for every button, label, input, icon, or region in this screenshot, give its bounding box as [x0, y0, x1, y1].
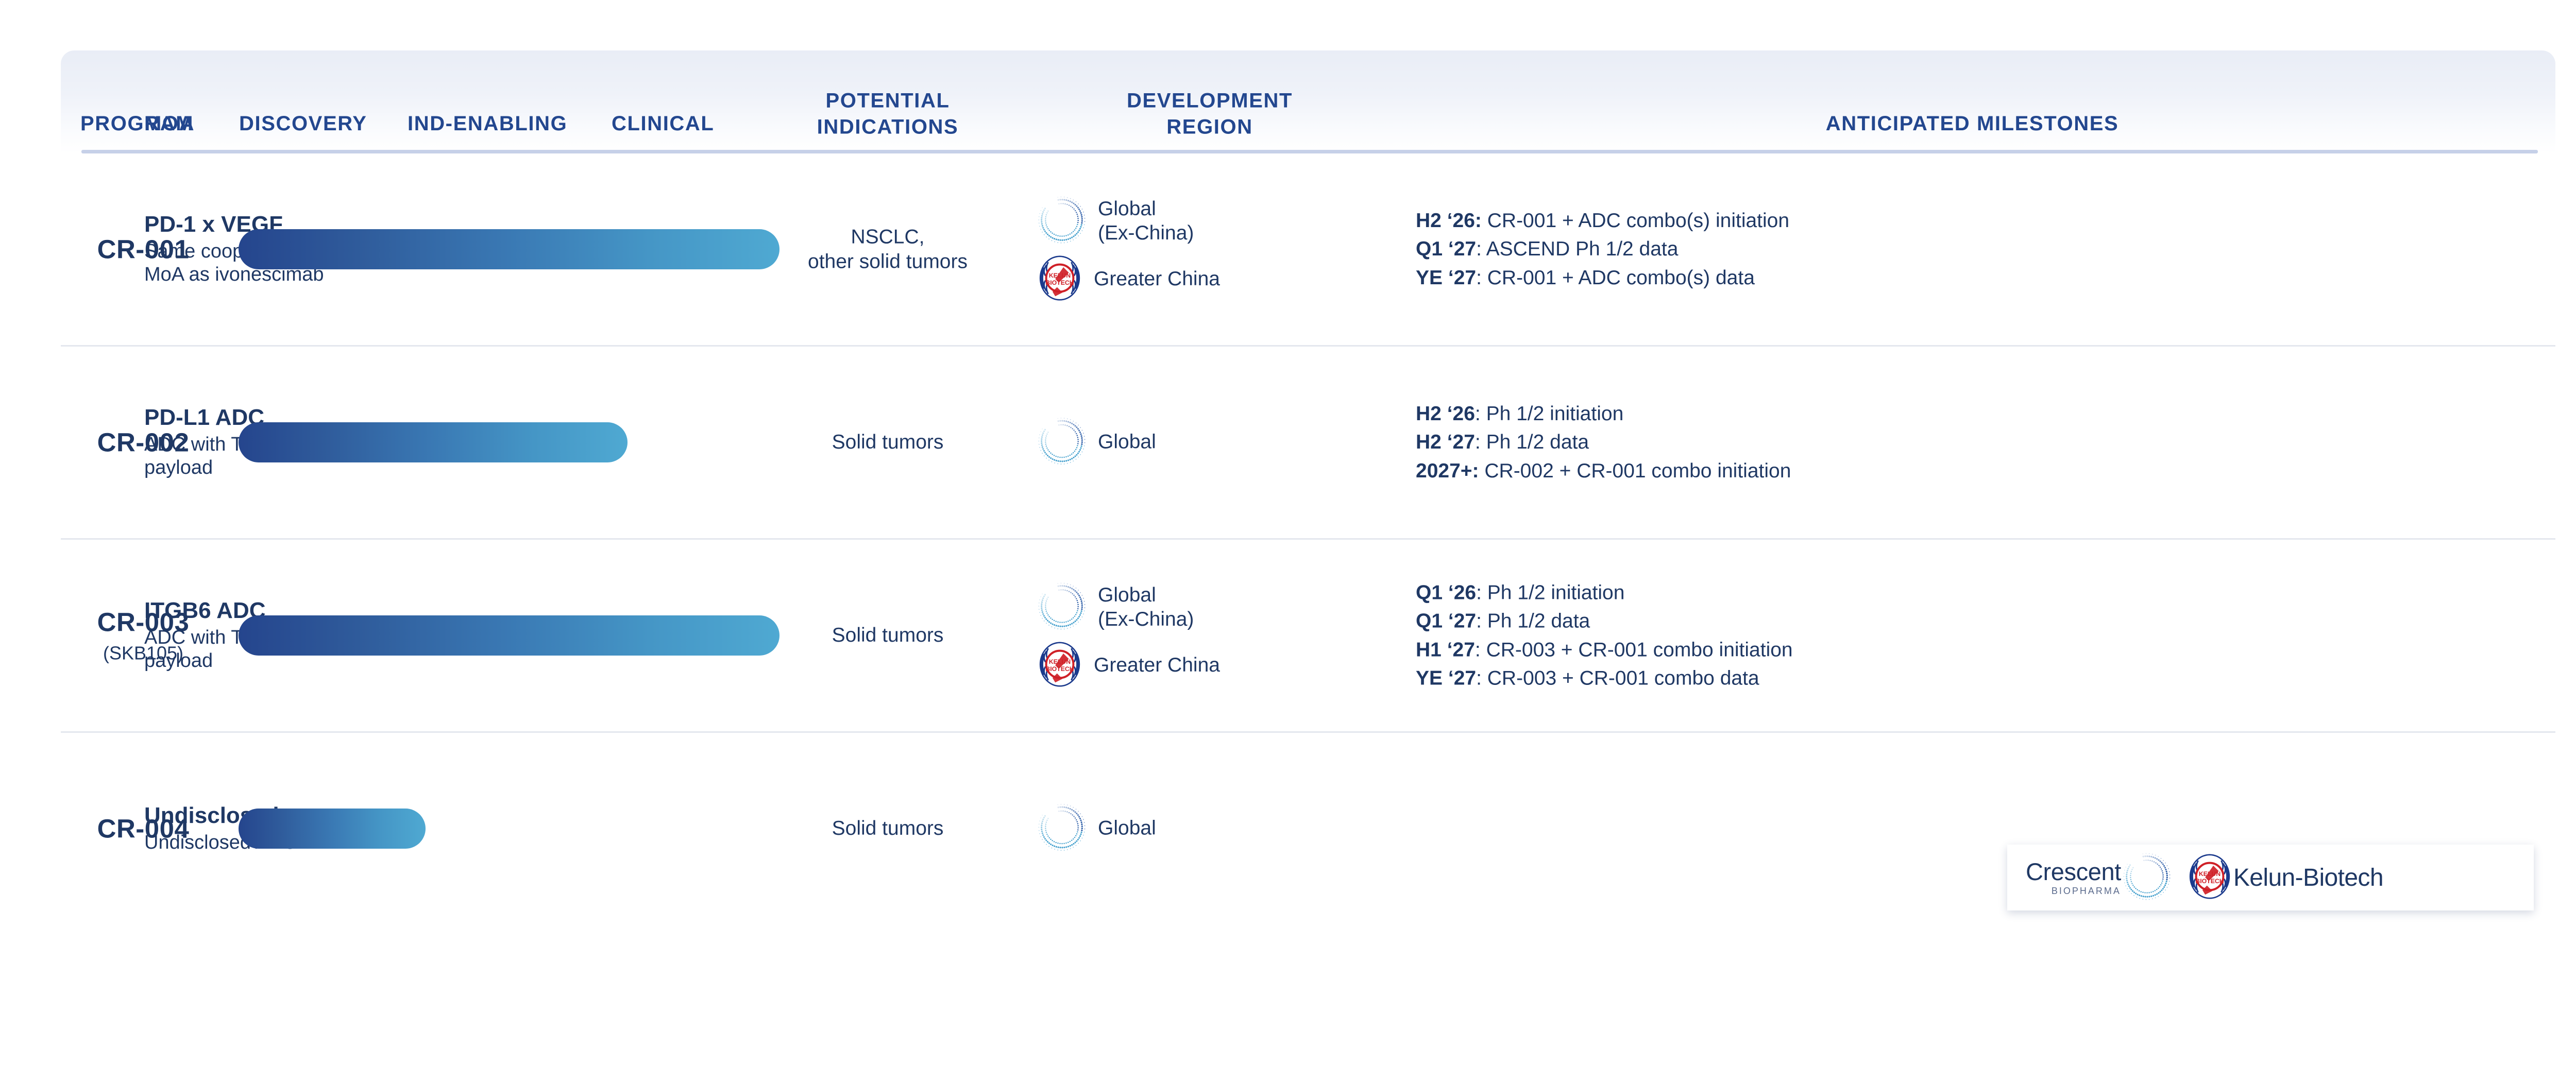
milestone-text: CR-001 + ADC combo(s) initiation — [1482, 210, 1789, 232]
stage-progress-cell — [239, 422, 628, 462]
table-body: CR-001PD-1 x VEGFSame cooperative MoA as… — [61, 153, 2555, 924]
milestone-text: : ASCEND Ph 1/2 data — [1476, 238, 1678, 260]
potential-indications-cell: Solid tumors — [731, 430, 1045, 455]
milestone-date: H2 ‘26: — [1416, 210, 1482, 232]
column-header-moa: MOA — [144, 111, 195, 137]
crescent-name: Crescent — [2026, 859, 2121, 884]
kelun-name: Kelun-Biotech — [2233, 864, 2383, 892]
header-divider — [81, 150, 2538, 153]
milestone-date: Q1 ‘27 — [1416, 238, 1476, 260]
milestone-item: YE ‘27: CR-001 + ADC combo(s) data — [1416, 264, 2523, 292]
crescent-icon — [2122, 852, 2172, 904]
milestones-cell: H2 ‘26: Ph 1/2 initiationH2 ‘27: Ph 1/2 … — [1416, 400, 2523, 485]
milestone-date: H2 ‘26 — [1416, 403, 1475, 425]
kelun-biotech-icon: KELUNBIOTECH — [2187, 854, 2232, 902]
stage-progress-bar — [239, 422, 628, 462]
crescent-icon — [1037, 581, 1087, 633]
column-header-development-region: DEVELOPMENT REGION — [1055, 88, 1364, 141]
column-header-anticipated-milestones: ANTICIPATED MILESTONES — [1405, 111, 2539, 137]
region-label: Global — [1098, 817, 1156, 840]
milestone-date: H1 ‘27 — [1416, 639, 1475, 661]
milestone-item: 2027+: CR-002 + CR-001 combo initiation — [1416, 457, 2523, 485]
potential-indications-cell: Solid tumors — [731, 816, 1045, 841]
milestone-date: YE ‘27 — [1416, 667, 1476, 689]
kelun-biotech-icon: KELUNBIOTECH — [1037, 255, 1082, 303]
development-region-cell: Global (Ex-China)KELUNBIOTECHGreater Chi… — [1037, 187, 1377, 312]
potential-indications-cell: Solid tumors — [731, 623, 1045, 648]
svg-text:BIOTECH: BIOTECH — [2195, 878, 2224, 885]
region-entry: KELUNBIOTECHGreater China — [1037, 642, 1377, 690]
milestone-text: : Ph 1/2 initiation — [1476, 581, 1624, 604]
svg-text:KELUN: KELUN — [1049, 272, 1071, 279]
column-header-ind-enabling: IND-ENABLING — [408, 111, 567, 137]
milestone-date: Q1 ‘26 — [1416, 581, 1476, 604]
region-entry: Global (Ex-China) — [1037, 195, 1377, 247]
milestone-text: : CR-001 + ADC combo(s) data — [1476, 267, 1755, 289]
milestone-item: H2 ‘26: CR-001 + ADC combo(s) initiation — [1416, 207, 2523, 235]
crescent-wordmark: Crescent BIOPHARMA — [2026, 859, 2121, 896]
crescent-icon — [1037, 417, 1087, 469]
region-label: Greater China — [1094, 654, 1220, 677]
milestone-date: Q1 ‘27 — [1416, 610, 1476, 632]
milestone-date: H2 ‘27 — [1416, 431, 1475, 453]
development-region-cell: Global (Ex-China)KELUNBIOTECHGreater Chi… — [1037, 573, 1377, 698]
milestone-text: : Ph 1/2 data — [1475, 431, 1589, 453]
milestone-date: YE ‘27 — [1416, 267, 1476, 289]
development-region-cell: Global — [1037, 795, 1377, 863]
kelun-biotech-icon: KELUNBIOTECH — [1037, 642, 1082, 690]
column-header-discovery: DISCOVERY — [239, 111, 367, 137]
stage-progress-cell — [239, 229, 779, 269]
region-entry: Global (Ex-China) — [1037, 581, 1377, 633]
stage-progress-bar — [239, 229, 779, 269]
milestone-item: Q1 ‘27: Ph 1/2 data — [1416, 607, 2523, 635]
potential-indications-cell: NSCLC, other solid tumors — [731, 225, 1045, 273]
region-label: Greater China — [1094, 267, 1220, 291]
region-entry: Global — [1037, 417, 1377, 469]
milestone-item: Q1 ‘27: ASCEND Ph 1/2 data — [1416, 235, 2523, 263]
svg-text:KELUN: KELUN — [2199, 870, 2221, 878]
region-entry: KELUNBIOTECHGreater China — [1037, 255, 1377, 303]
table-row: CR-001PD-1 x VEGFSame cooperative MoA as… — [61, 153, 2555, 347]
milestone-text: : Ph 1/2 initiation — [1475, 403, 1623, 425]
stage-progress-bar — [239, 615, 779, 656]
region-entry: Global — [1037, 803, 1377, 855]
svg-text:BIOTECH: BIOTECH — [1045, 665, 1074, 673]
region-label: Global — [1098, 431, 1156, 454]
crescent-icon — [1037, 195, 1087, 247]
milestone-item: H2 ‘27: Ph 1/2 data — [1416, 428, 2523, 456]
partner-logo-bar: Crescent BIOPHARMA KELUNBIOTECH Kelun-Bi… — [2007, 845, 2534, 910]
column-header-potential-indications: POTENTIAL INDICATIONS — [731, 88, 1045, 141]
milestone-date: 2027+: — [1416, 460, 1479, 482]
svg-text:BIOTECH: BIOTECH — [1045, 279, 1074, 286]
milestone-item: H1 ‘27: CR-003 + CR-001 combo initiation — [1416, 635, 2523, 664]
table-row: CR-003(SKB105)ITGB6 ADCADC with Topo1i p… — [61, 540, 2555, 733]
region-label: Global (Ex-China) — [1098, 197, 1194, 245]
milestone-item: H2 ‘26: Ph 1/2 initiation — [1416, 400, 2523, 428]
crescent-subtitle: BIOPHARMA — [2052, 886, 2121, 896]
region-label: Global (Ex-China) — [1098, 583, 1194, 631]
milestone-text: : CR-003 + CR-001 combo data — [1476, 667, 1759, 689]
stage-progress-cell — [239, 615, 779, 656]
milestone-text: CR-002 + CR-001 combo initiation — [1479, 460, 1791, 482]
svg-text:KELUN: KELUN — [1049, 658, 1071, 665]
table-row: CR-002PD-L1 ADCADC with Topo1i payloadSo… — [61, 347, 2555, 540]
milestones-cell: Q1 ‘26: Ph 1/2 initiationQ1 ‘27: Ph 1/2 … — [1416, 578, 2523, 693]
milestone-text: : CR-003 + CR-001 combo initiation — [1475, 639, 1793, 661]
milestone-item: YE ‘27: CR-003 + CR-001 combo data — [1416, 664, 2523, 692]
column-header-clinical: CLINICAL — [612, 111, 714, 137]
pipeline-table: PROGRAM MOA DISCOVERY IND-ENABLING CLINI… — [61, 50, 2555, 921]
milestone-text: : Ph 1/2 data — [1476, 610, 1590, 632]
milestones-cell: H2 ‘26: CR-001 + ADC combo(s) initiation… — [1416, 207, 2523, 292]
kelun-biotech-logo: KELUNBIOTECH Kelun-Biotech — [2187, 854, 2383, 902]
stage-progress-bar — [239, 809, 426, 849]
crescent-biopharma-logo: Crescent BIOPHARMA — [2026, 852, 2172, 904]
stage-progress-cell — [239, 809, 426, 849]
table-header: PROGRAM MOA DISCOVERY IND-ENABLING CLINI… — [61, 50, 2555, 153]
crescent-icon — [1037, 803, 1087, 855]
development-region-cell: Global — [1037, 408, 1377, 477]
milestone-item: Q1 ‘26: Ph 1/2 initiation — [1416, 578, 2523, 607]
